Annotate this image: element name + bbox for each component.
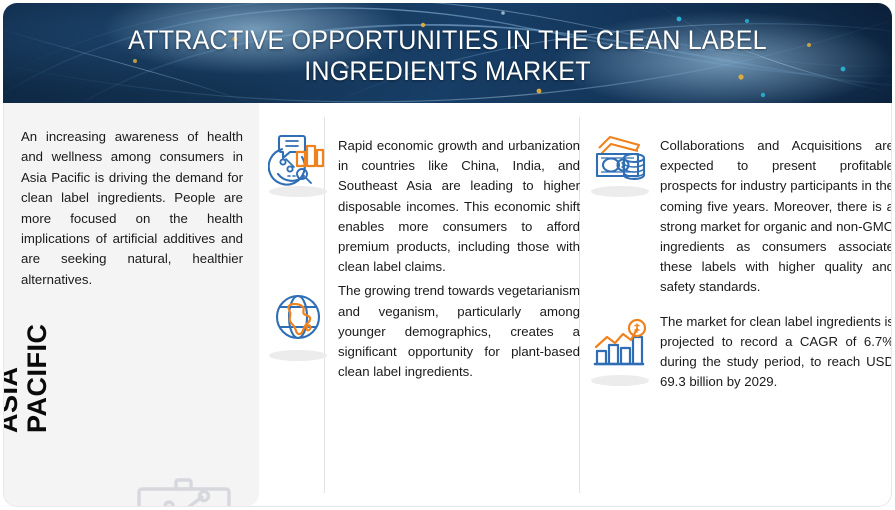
infographic-page: ATTRACTIVE OPPORTUNITIES IN THE CLEAN LA…	[0, 0, 895, 510]
bar-chart-growth-dollar-icon	[584, 314, 656, 390]
globe-icon	[262, 289, 334, 365]
left-summary-panel: An increasing awareness of health and we…	[4, 103, 259, 507]
content-frame: An increasing awareness of health and we…	[3, 103, 892, 507]
icon-shadow	[269, 350, 327, 361]
left-panel-paragraph: An increasing awareness of health and we…	[21, 127, 243, 290]
insight-text: Collaborations and Acquisitions are expe…	[660, 125, 892, 298]
insight-text: Rapid economic growth and urbanization i…	[338, 125, 580, 277]
page-title: ATTRACTIVE OPPORTUNITIES IN THE CLEAN LA…	[34, 25, 861, 87]
insight-text: The growing trend towards vegetarianism …	[338, 281, 580, 382]
region-label-line1: ASIA	[3, 283, 23, 433]
header-banner: ATTRACTIVE OPPORTUNITIES IN THE CLEAN LA…	[3, 3, 892, 103]
presentation-chart-magnifier-icon	[130, 475, 250, 507]
middle-column: Rapid economic growth and urbanization i…	[262, 103, 580, 382]
insight-block: The growing trend towards vegetarianism …	[262, 281, 580, 382]
insight-block: Collaborations and Acquisitions are expe…	[584, 125, 892, 298]
money-cash-coins-icon	[584, 125, 656, 201]
right-column: Collaborations and Acquisitions are expe…	[584, 103, 892, 392]
insight-block: Rapid economic growth and urbanization i…	[262, 125, 580, 277]
insight-text: The market for clean label ingredients i…	[660, 308, 892, 393]
insight-block: The market for clean label ingredients i…	[584, 308, 892, 393]
economic-growth-analytics-icon	[262, 125, 334, 201]
region-label-line2: PACIFIC	[23, 283, 52, 433]
region-label: ASIA PACIFIC	[3, 283, 52, 433]
